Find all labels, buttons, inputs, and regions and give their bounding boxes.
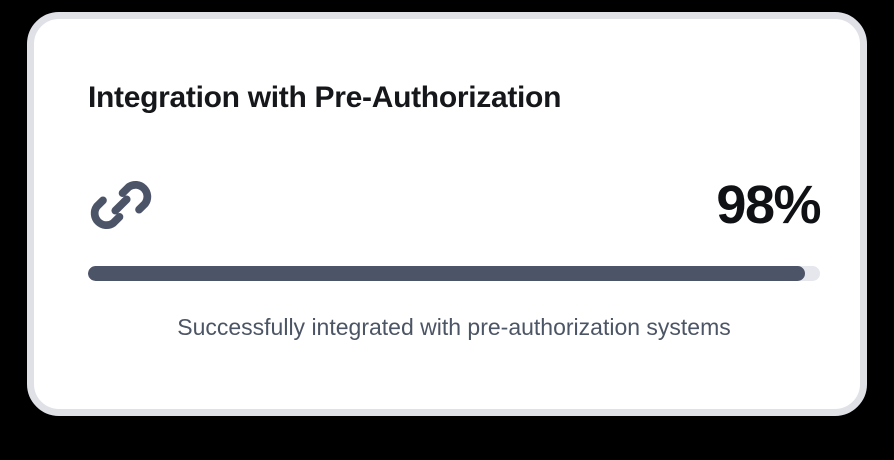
link-icon — [88, 172, 154, 238]
progress-bar-track — [88, 266, 820, 281]
page-title: Integration with Pre-Authorization — [88, 81, 561, 115]
link-icon-glyph — [88, 172, 154, 238]
progress-bar-fill — [88, 266, 805, 281]
status-card: Integration with Pre-Authorization 98% S… — [27, 12, 867, 416]
status-description: Successfully integrated with pre-authori… — [88, 305, 820, 349]
status-card-body: Integration with Pre-Authorization 98% S… — [34, 19, 860, 409]
metric-row: 98% — [88, 167, 820, 243]
page-root: Integration with Pre-Authorization 98% S… — [0, 0, 894, 460]
percent-value: 98% — [716, 178, 820, 232]
